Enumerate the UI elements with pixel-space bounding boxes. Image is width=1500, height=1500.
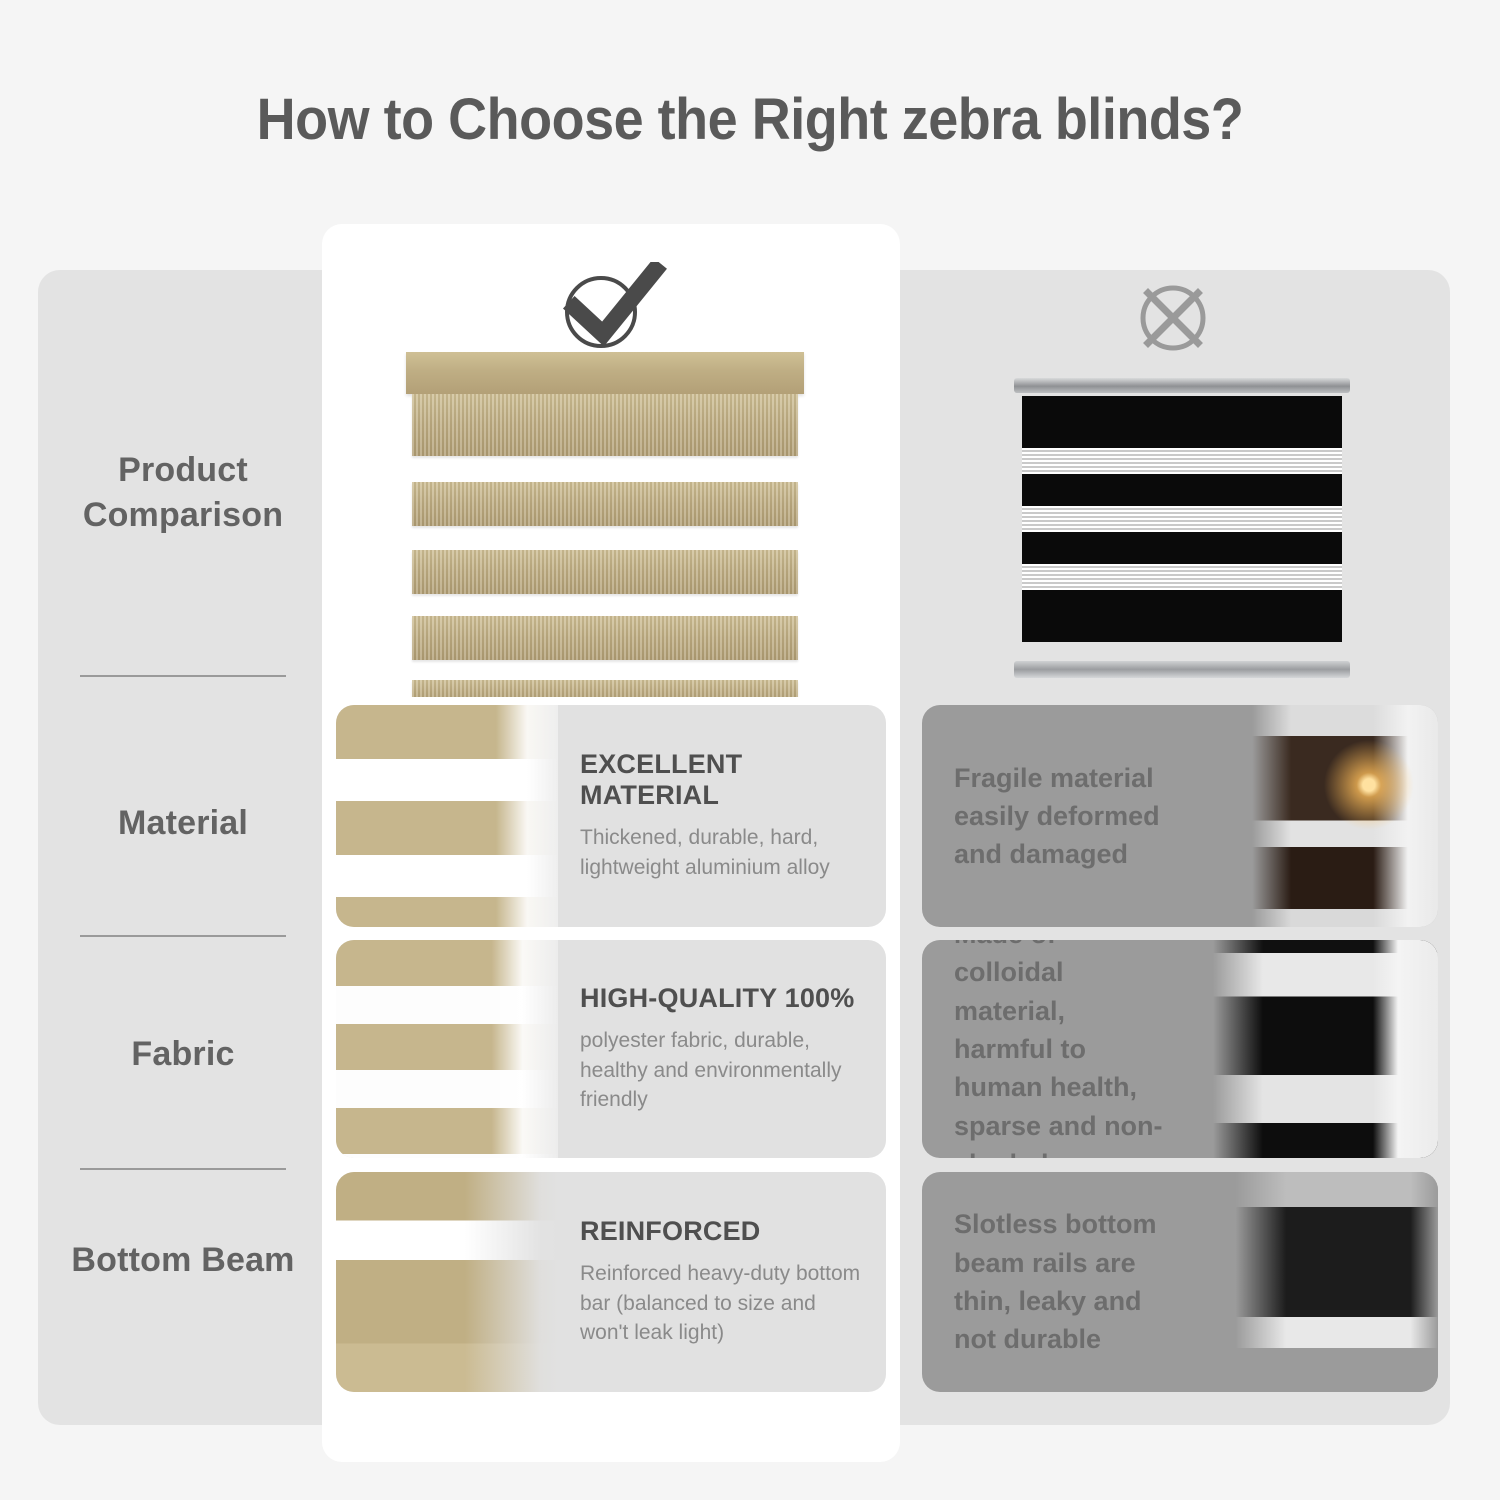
check-circle-icon: [545, 262, 675, 352]
light-leak-glare-photo: [1222, 705, 1438, 927]
feature-card-text: Slotless bottom beam rails are thin, lea…: [922, 1172, 1208, 1392]
feature-card-text: EXCELLENT MATERIAL Thickened, durable, h…: [558, 705, 886, 927]
feature-card-bottom-beam-bad: Slotless bottom beam rails are thin, lea…: [922, 1172, 1438, 1392]
blind-top-rail: [1014, 378, 1350, 393]
feature-card-fabric-bad: Made of colloidal material, harmful to h…: [922, 940, 1438, 1158]
blind-bottom-bar: [412, 680, 798, 697]
row-label-product-comparison: Product Comparison: [38, 448, 328, 538]
blind-sheer-stripe: [1022, 506, 1342, 532]
feature-card-material-good: EXCELLENT MATERIAL Thickened, durable, h…: [336, 705, 886, 927]
feature-card-text: Made of colloidal material, harmful to h…: [922, 940, 1188, 1158]
card-body-fabric: polyester fabric, durable, healthy and e…: [580, 1026, 864, 1115]
blind-valance: [406, 352, 804, 394]
blind-slat-band: [412, 394, 798, 456]
blind-body: [1022, 396, 1342, 642]
feature-card-text: REINFORCED Reinforced heavy-duty bottom …: [558, 1172, 886, 1392]
black-white-stripe-fabric-photo: [1188, 940, 1438, 1158]
infographic-page: How to Choose the Right zebra blinds? Pr…: [0, 0, 1500, 1500]
card-body-material: Thickened, durable, hard, lightweight al…: [580, 823, 864, 883]
row-label-fabric: Fabric: [38, 1032, 328, 1077]
blind-sheer-stripe: [1022, 564, 1342, 590]
blind-slat-band: [412, 482, 798, 526]
card-heading-fabric: HIGH-QUALITY 100%: [580, 983, 864, 1014]
card-text-material-bad: Fragile material easily deformed and dam…: [944, 759, 1200, 874]
row-label-rail: Product Comparison Material Fabric Botto…: [38, 270, 328, 1425]
blind-slat-band: [412, 550, 798, 594]
row-label-material: Material: [38, 801, 328, 846]
blind-slat-band: [412, 616, 798, 660]
rail-divider-1: [80, 675, 286, 677]
black-zebra-blind-product-photo: [1012, 378, 1352, 678]
row-label-bottom-beam: Bottom Beam: [38, 1238, 328, 1283]
thin-bottom-rail-photo: [1208, 1172, 1438, 1392]
rail-divider-3: [80, 1168, 286, 1170]
reinforced-bottom-bar-photo: [336, 1172, 558, 1392]
beige-blind-closeup-photo: [336, 705, 558, 927]
blind-bottom-rail: [1014, 661, 1350, 678]
beige-zebra-blind-product-photo: [400, 352, 810, 697]
card-body-bottom-beam: Reinforced heavy-duty bottom bar (balanc…: [580, 1259, 864, 1348]
feature-card-text: HIGH-QUALITY 100% polyester fabric, dura…: [558, 940, 886, 1158]
cross-circle-icon: [1118, 278, 1228, 358]
card-heading-material: EXCELLENT MATERIAL: [580, 749, 864, 811]
feature-card-text: Fragile material easily deformed and dam…: [922, 705, 1222, 927]
feature-card-bottom-beam-good: REINFORCED Reinforced heavy-duty bottom …: [336, 1172, 886, 1392]
card-text-fabric-bad: Made of colloidal material, harmful to h…: [944, 940, 1166, 1158]
feature-card-fabric-good: HIGH-QUALITY 100% polyester fabric, dura…: [336, 940, 886, 1158]
blind-sheer-stripe: [1022, 448, 1342, 474]
feature-card-material-bad: Fragile material easily deformed and dam…: [922, 705, 1438, 927]
rail-divider-2: [80, 935, 286, 937]
card-heading-bottom-beam: REINFORCED: [580, 1216, 864, 1247]
page-title: How to Choose the Right zebra blinds?: [53, 86, 1448, 153]
beige-fabric-closeup-photo: [336, 940, 558, 1158]
card-text-bottom-beam-bad: Slotless bottom beam rails are thin, lea…: [944, 1205, 1186, 1358]
